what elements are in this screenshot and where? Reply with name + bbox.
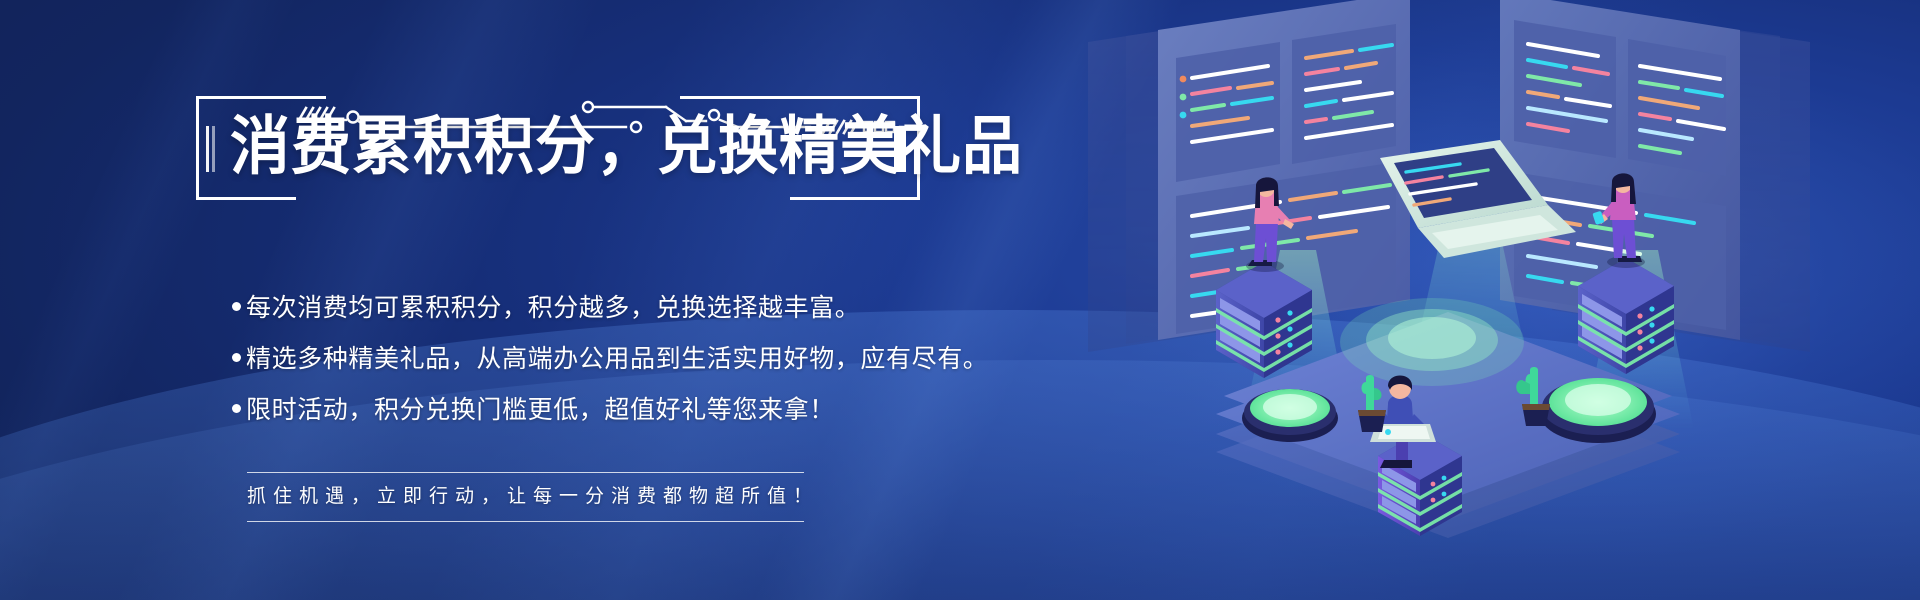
bullet-dot-icon (232, 302, 241, 311)
bullet-text: 精选多种精美礼品，从高端办公用品到生活实用好物，应有尽有。 (246, 334, 988, 385)
title-accent-bars (206, 126, 220, 172)
tagline-rule-bottom (247, 521, 804, 522)
list-item: 每次消费均可累积积分，积分越多，兑换选择越丰富。 (232, 283, 932, 334)
promo-banner: 消费累积积分，兑换精美礼品 每次消费均可累积积分，积分越多，兑换选择越丰富。 精… (0, 0, 1920, 600)
tagline-block: 抓住机遇，立即行动，让每一分消费都物超所值！ (247, 472, 804, 522)
list-item: 限时活动，积分兑换门槛更低，超值好礼等您来拿！ (232, 385, 932, 436)
feature-bullet-list: 每次消费均可累积积分，积分越多，兑换选择越丰富。 精选多种精美礼品，从高端办公用… (232, 283, 932, 436)
bullet-dot-icon (232, 404, 241, 413)
tagline-text: 抓住机遇，立即行动，让每一分消费都物超所值！ (247, 473, 804, 521)
isometric-illustration (980, 0, 1920, 600)
bullet-text: 每次消费均可累积积分，积分越多，兑换选择越丰富。 (246, 283, 860, 334)
glow-pad-right (1540, 378, 1656, 443)
title-block: 消费累积积分，兑换精美礼品 (196, 96, 920, 200)
frame-left-bottom (196, 197, 296, 200)
frame-right-bottom (790, 197, 920, 200)
banner-content: 消费累积积分，兑换精美礼品 每次消费均可累积积分，积分越多，兑换选择越丰富。 精… (0, 0, 1000, 600)
list-item: 精选多种精美礼品，从高端办公用品到生活实用好物，应有尽有。 (232, 334, 932, 385)
bullet-text: 限时活动，积分兑换门槛更低，超值好礼等您来拿！ (246, 385, 835, 436)
bullet-dot-icon (232, 353, 241, 362)
glow-pad (1242, 389, 1338, 442)
title-endcap (894, 126, 906, 172)
